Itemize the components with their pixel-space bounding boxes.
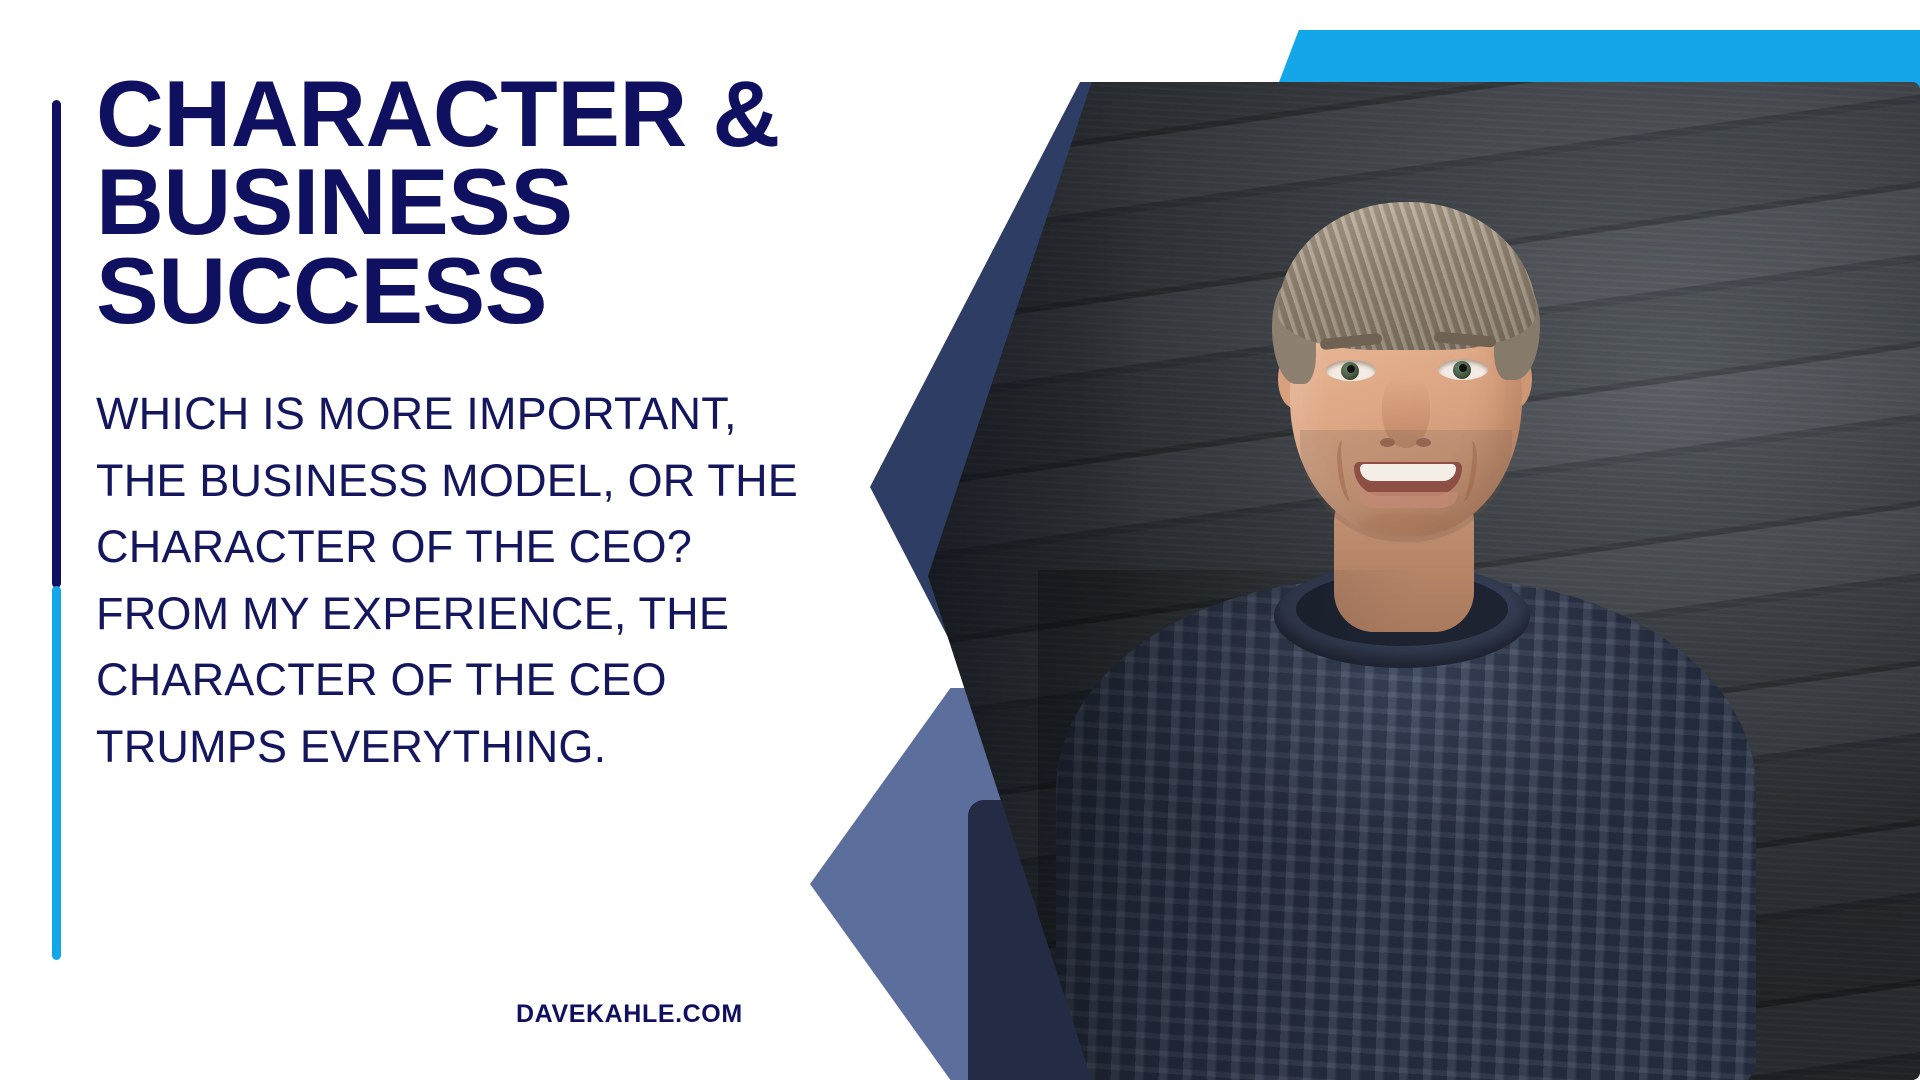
portrait-photo [928,82,1920,1080]
body-line-5: CHARACTER OF THE CEO [96,647,856,714]
hexagon-graphic-group [780,0,1920,1080]
chin-shading [1358,512,1454,538]
teeth [1360,464,1456,481]
website-url[interactable]: DAVEKAHLE.COM [516,1000,743,1029]
headline-line-1: CHARACTER & [96,70,856,158]
text-column: CHARACTER & BUSINESS SUCCESS WHICH IS MO… [96,70,856,781]
body-copy: WHICH IS MORE IMPORTANT, THE BUSINESS MO… [96,381,856,781]
hair [1278,202,1536,350]
body-line-1: WHICH IS MORE IMPORTANT, [96,381,856,448]
body-line-4: FROM MY EXPERIENCE, THE [96,581,856,648]
page-title: CHARACTER & BUSINESS SUCCESS [96,70,856,335]
body-line-6: TRUMPS EVERYTHING. [96,714,856,781]
accent-bar-navy [52,100,61,588]
eye-right [1438,359,1488,380]
body-line-2: THE BUSINESS MODEL, OR THE [96,448,856,515]
pupil-right [1459,364,1467,372]
mouth [1354,462,1462,496]
person-figure [1038,140,1798,1080]
eye-left [1326,360,1376,381]
portrait-hexagon-frame [928,82,1920,1080]
pupil-left [1347,365,1355,373]
hair-texture [1278,202,1536,350]
accent-bar-cyan [52,586,61,960]
headline-line-3: SUCCESS [96,247,856,335]
headline-line-2: BUSINESS [96,158,856,246]
slide-canvas: CHARACTER & BUSINESS SUCCESS WHICH IS MO… [0,0,1920,1080]
body-line-3: CHARACTER OF THE CEO? [96,514,856,581]
lower-lip [1358,492,1458,508]
